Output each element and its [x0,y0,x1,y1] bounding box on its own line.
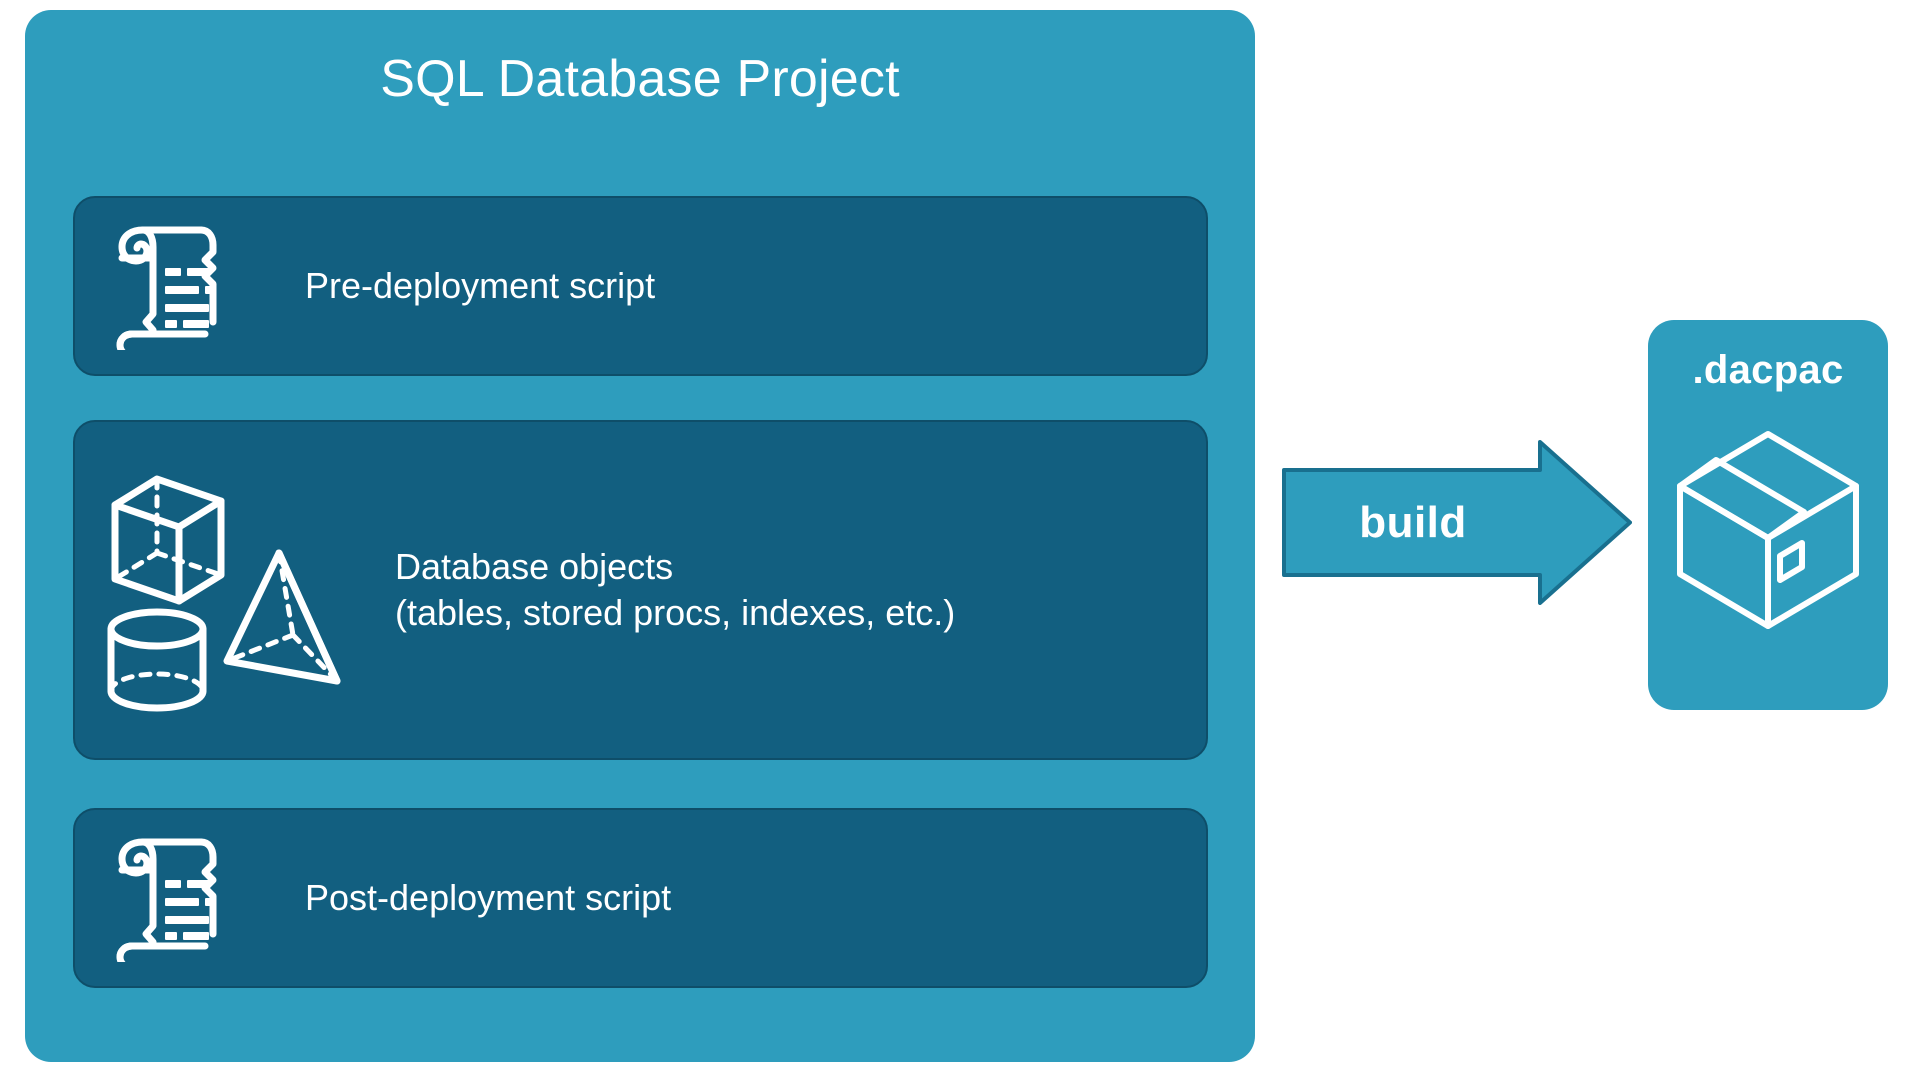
card-label-post-deployment: Post-deployment script [305,875,671,921]
package-box-icon [1672,424,1864,634]
pyramid-wireframe-icon [227,553,337,681]
build-arrow[interactable]: build [1282,440,1632,605]
card-pre-deployment-script[interactable]: Pre-deployment script [73,196,1208,376]
database-objects-icon-group [89,422,374,758]
card-post-deployment-script[interactable]: Post-deployment script [73,808,1208,988]
cylinder-wireframe-icon [111,612,203,708]
arrow-right-icon [1282,440,1632,605]
card-label-line: Database objects [395,544,955,590]
cube-wireframe-icon [115,479,221,601]
diagram-canvas: SQL Database Project [0,0,1920,1080]
page-title: SQL Database Project [25,50,1255,108]
card-label-pre-deployment: Pre-deployment script [305,263,655,309]
sql-database-project-container: SQL Database Project [25,10,1255,1062]
dacpac-label: .dacpac [1648,348,1888,393]
card-database-objects[interactable]: Database objects (tables, stored procs, … [73,420,1208,760]
card-label-line: Pre-deployment script [305,263,655,309]
scroll-icon [97,198,247,374]
card-label-line: Post-deployment script [305,875,671,921]
card-label-line: (tables, stored procs, indexes, etc.) [395,590,955,636]
scroll-icon [97,810,247,986]
card-label-database-objects: Database objects (tables, stored procs, … [395,544,955,636]
dacpac-output-box[interactable]: .dacpac [1648,320,1888,710]
